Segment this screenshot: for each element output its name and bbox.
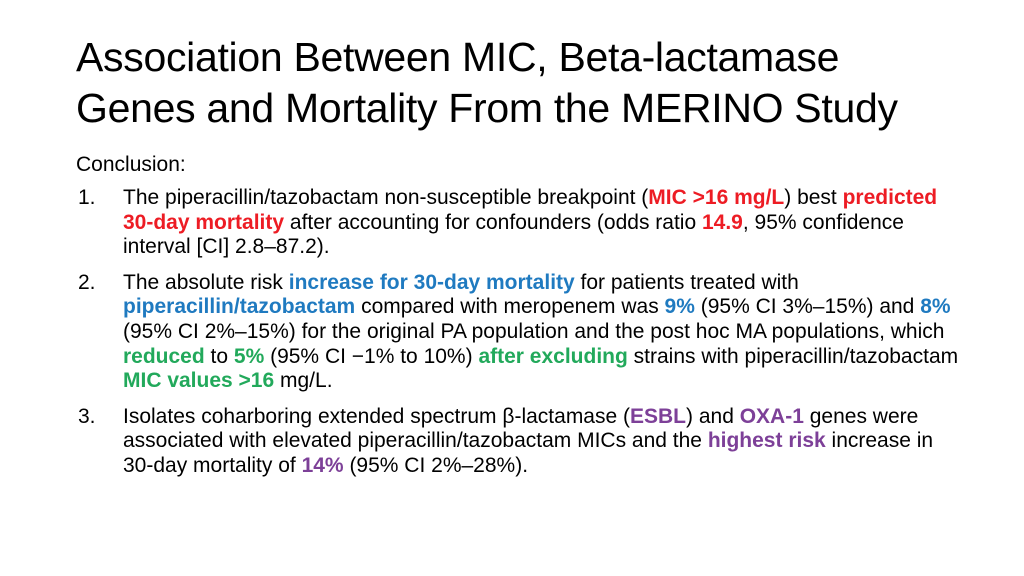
list-item-number: 3. — [78, 405, 112, 430]
conclusion-heading: Conclusion: — [76, 152, 960, 178]
list-item-text: Isolates coharboring extended spectrum β… — [123, 405, 960, 479]
conclusion-list: 1.The piperacillin/tazobactam non-suscep… — [76, 186, 960, 479]
text-run: to — [205, 345, 234, 368]
list-item: 3.Isolates coharboring extended spectrum… — [76, 405, 960, 479]
list-item-number: 2. — [78, 271, 112, 296]
text-run: ) and — [686, 405, 740, 428]
emphasis-blue: piperacillin/tazobactam — [123, 295, 355, 318]
slide-canvas: Association Between MIC, Beta-lactamase … — [0, 0, 1024, 576]
emphasis-purple: ESBL — [630, 405, 686, 428]
text-run: (95% CI −1% to 10%) — [264, 345, 478, 368]
emphasis-purple: highest risk — [708, 429, 826, 452]
emphasis-green: after excluding — [478, 345, 627, 368]
text-run: (95% CI 2%–28%). — [344, 454, 528, 477]
emphasis-purple: 14% — [302, 454, 344, 477]
text-run: Isolates coharboring extended spectrum β… — [123, 405, 630, 428]
emphasis-blue: increase for 30-day mortality — [289, 271, 575, 294]
text-run: mg/L. — [274, 369, 332, 392]
conclusion-body: Conclusion: 1.The piperacillin/tazobacta… — [76, 152, 960, 479]
text-run: strains with piperacillin/tazobactam — [628, 345, 958, 368]
emphasis-red: MIC >16 mg/L — [648, 186, 784, 209]
list-item-text: The piperacillin/tazobactam non-suscepti… — [123, 186, 960, 260]
text-run: (95% CI 3%–15%) and — [695, 295, 920, 318]
list-item: 2.The absolute risk increase for 30-day … — [76, 271, 960, 394]
list-item-text: The absolute risk increase for 30-day mo… — [123, 271, 960, 394]
page-title: Association Between MIC, Beta-lactamase … — [76, 32, 966, 134]
emphasis-green: 5% — [234, 345, 264, 368]
emphasis-blue: 9% — [665, 295, 695, 318]
emphasis-green: MIC values >16 — [123, 369, 274, 392]
emphasis-green: reduced — [123, 345, 205, 368]
text-run: (95% CI 2%–15%) for the original PA popu… — [123, 320, 944, 343]
list-item-number: 1. — [78, 186, 112, 211]
list-item: 1.The piperacillin/tazobactam non-suscep… — [76, 186, 960, 260]
emphasis-red: 14.9 — [702, 211, 743, 234]
emphasis-purple: OXA-1 — [740, 405, 804, 428]
text-run: The absolute risk — [123, 271, 289, 294]
text-run: for patients treated with — [575, 271, 799, 294]
text-run: The piperacillin/tazobactam non-suscepti… — [123, 186, 648, 209]
emphasis-blue: 8% — [920, 295, 950, 318]
text-run: after accounting for confounders (odds r… — [284, 211, 702, 234]
text-run: compared with meropenem was — [355, 295, 664, 318]
text-run: ) best — [784, 186, 842, 209]
